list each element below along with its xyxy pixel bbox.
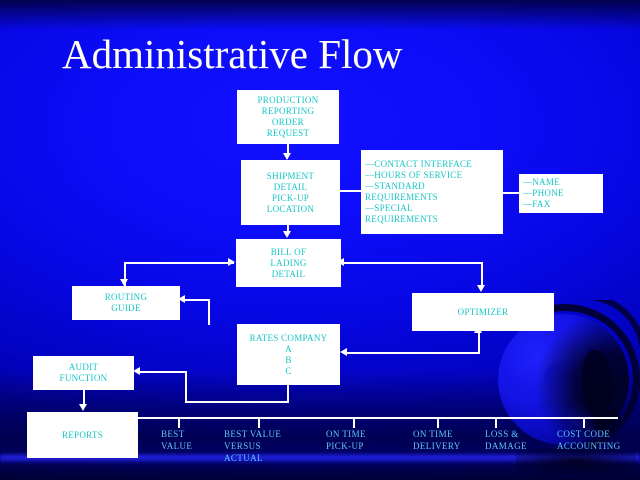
node-line: PICK-UP: [272, 193, 309, 204]
connector-rates-to-routing-v: [208, 300, 210, 325]
node-audit-function[interactable]: AUDIT FUNCTION: [33, 356, 134, 390]
connector-optimizer-to-rates-h: [347, 352, 480, 354]
arrowhead-down: [120, 279, 128, 286]
metric-line: ACTUAL: [224, 452, 281, 464]
connector-routing-to-bol-h: [124, 262, 234, 264]
node-reports[interactable]: REPORTS: [27, 412, 138, 458]
metric-on-time-pickup: ON TIME PICK-UP: [326, 428, 366, 452]
node-line: OPTIMIZER: [458, 307, 509, 318]
connector-audit-riser: [185, 372, 187, 403]
metric-line: LOSS &: [485, 428, 527, 440]
connector-shipment-to-contact: [339, 190, 361, 192]
page-title: Administrative Flow: [62, 30, 403, 78]
node-line: —NAME: [523, 177, 560, 188]
metric-tick: [437, 417, 439, 428]
metric-line: DELIVERY: [413, 440, 461, 452]
node-line: LADING: [270, 258, 306, 269]
metric-line: VALUE: [161, 440, 192, 452]
slide-canvas: Administrative Flow PRODUCTION R: [0, 0, 640, 480]
arrowhead-left: [340, 348, 347, 356]
connector-rates-to-routing-h: [182, 299, 210, 301]
metric-tick: [258, 417, 260, 428]
node-line: —SPECIAL: [365, 203, 413, 214]
node-line: REQUIREMENTS: [365, 214, 438, 225]
connector-optimizer-to-rates-v: [478, 331, 480, 353]
node-line: GUIDE: [111, 303, 141, 314]
metric-line: BEST: [161, 428, 192, 440]
metric-tick: [178, 417, 180, 428]
node-line: —PHONE: [523, 188, 564, 199]
node-line: —HOURS OF SERVICE: [365, 170, 462, 181]
node-line: —CONTACT INTERFACE: [365, 159, 472, 170]
node-line: FUNCTION: [60, 373, 108, 384]
metric-on-time-delivery: ON TIME DELIVERY: [413, 428, 461, 452]
node-line: ROUTING: [105, 292, 148, 303]
node-line: RATES COMPANY: [250, 333, 328, 344]
node-line: ORDER: [272, 117, 304, 128]
node-line: DETAIL: [272, 269, 306, 280]
metric-tick: [495, 417, 497, 428]
arrowhead-left: [133, 367, 140, 375]
globe-shading: [498, 314, 629, 445]
connector-rates-to-audit-in: [140, 371, 187, 373]
metric-line: BEST VALUE: [224, 428, 281, 440]
node-line: BILL OF: [271, 247, 307, 258]
node-line: C: [285, 366, 291, 377]
arrowhead-down: [283, 153, 291, 160]
node-line: SHIPMENT: [267, 171, 314, 182]
node-rates-company[interactable]: RATES COMPANY A B C: [237, 324, 340, 385]
metric-tick: [353, 417, 355, 428]
node-line: REPORTS: [62, 430, 103, 441]
metric-line: VERSUS: [224, 440, 281, 452]
metric-line: COST CODE: [557, 428, 621, 440]
node-production-reporting-order-request[interactable]: PRODUCTION REPORTING ORDER REQUEST: [237, 90, 339, 144]
node-contact-interface-details[interactable]: —CONTACT INTERFACE —HOURS OF SERVICE —ST…: [361, 150, 503, 234]
connector-bol-to-optimizer-h: [341, 262, 482, 264]
node-line: PRODUCTION: [257, 95, 318, 106]
node-line: REPORTING: [262, 106, 315, 117]
node-line: REQUIREMENTS: [365, 192, 438, 203]
metric-loss-and-damage: LOSS & DAMAGE: [485, 428, 527, 452]
metric-cost-code-accounting: COST CODE ACCOUNTING: [557, 428, 621, 452]
metric-bus-line: [138, 417, 618, 419]
connector-rates-to-audit-h: [185, 401, 289, 403]
node-contact-fields[interactable]: —NAME —PHONE —FAX: [519, 174, 603, 213]
metric-best-value: BEST VALUE: [161, 428, 192, 452]
node-line: DETAIL: [274, 182, 308, 193]
node-line: B: [285, 355, 291, 366]
node-line: —FAX: [523, 199, 551, 210]
metric-line: PICK-UP: [326, 440, 366, 452]
connector-contact-to-fields: [502, 192, 520, 194]
arrowhead-down: [79, 404, 87, 411]
metric-line: ON TIME: [413, 428, 461, 440]
node-line: AUDIT: [69, 362, 99, 373]
node-shipment-detail-pickup-location[interactable]: SHIPMENT DETAIL PICK-UP LOCATION: [241, 160, 340, 225]
arrowhead-down: [477, 285, 485, 292]
node-bill-of-lading-detail[interactable]: BILL OF LADING DETAIL: [236, 239, 341, 287]
node-routing-guide[interactable]: ROUTING GUIDE: [72, 286, 180, 320]
node-line: —STANDARD: [365, 181, 425, 192]
arrowhead-down: [283, 231, 291, 238]
metric-line: DAMAGE: [485, 440, 527, 452]
arrowhead-right: [228, 258, 235, 266]
node-optimizer[interactable]: OPTIMIZER: [412, 293, 554, 331]
background-top-shade: [0, 0, 640, 30]
metric-tick: [583, 417, 585, 428]
node-line: A: [285, 344, 292, 355]
metric-line: ON TIME: [326, 428, 366, 440]
node-line: REQUEST: [267, 128, 310, 139]
node-line: LOCATION: [267, 204, 314, 215]
metric-best-value-versus-actual: BEST VALUE VERSUS ACTUAL: [224, 428, 281, 464]
metric-line: ACCOUNTING: [557, 440, 621, 452]
